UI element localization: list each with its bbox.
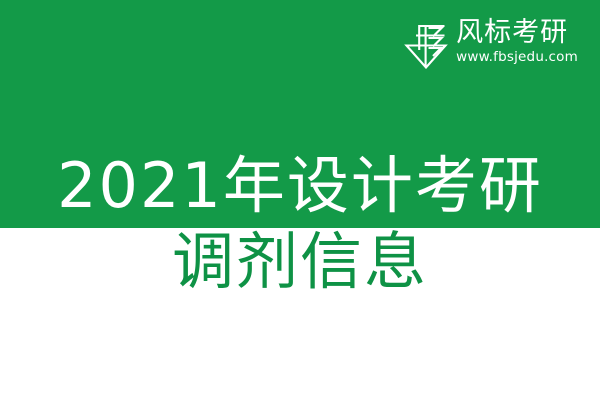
brand-text-block: 风标考研 www.fbsjedu.com [456, 17, 578, 65]
brand-lockup: 风标考研 www.fbsjedu.com [403, 17, 578, 69]
brand-url: www.fbsjedu.com [456, 49, 578, 65]
headline-line-1: 2021年设计考研 [0, 148, 600, 224]
brand-name: 风标考研 [456, 17, 568, 48]
poster-canvas: 风标考研 www.fbsjedu.com 2021年设计考研 调剂信息 [0, 0, 600, 400]
headline-line-2: 调剂信息 [0, 224, 600, 300]
fbsj-logo-icon [403, 19, 449, 69]
headline-block: 2021年设计考研 调剂信息 [0, 148, 600, 300]
